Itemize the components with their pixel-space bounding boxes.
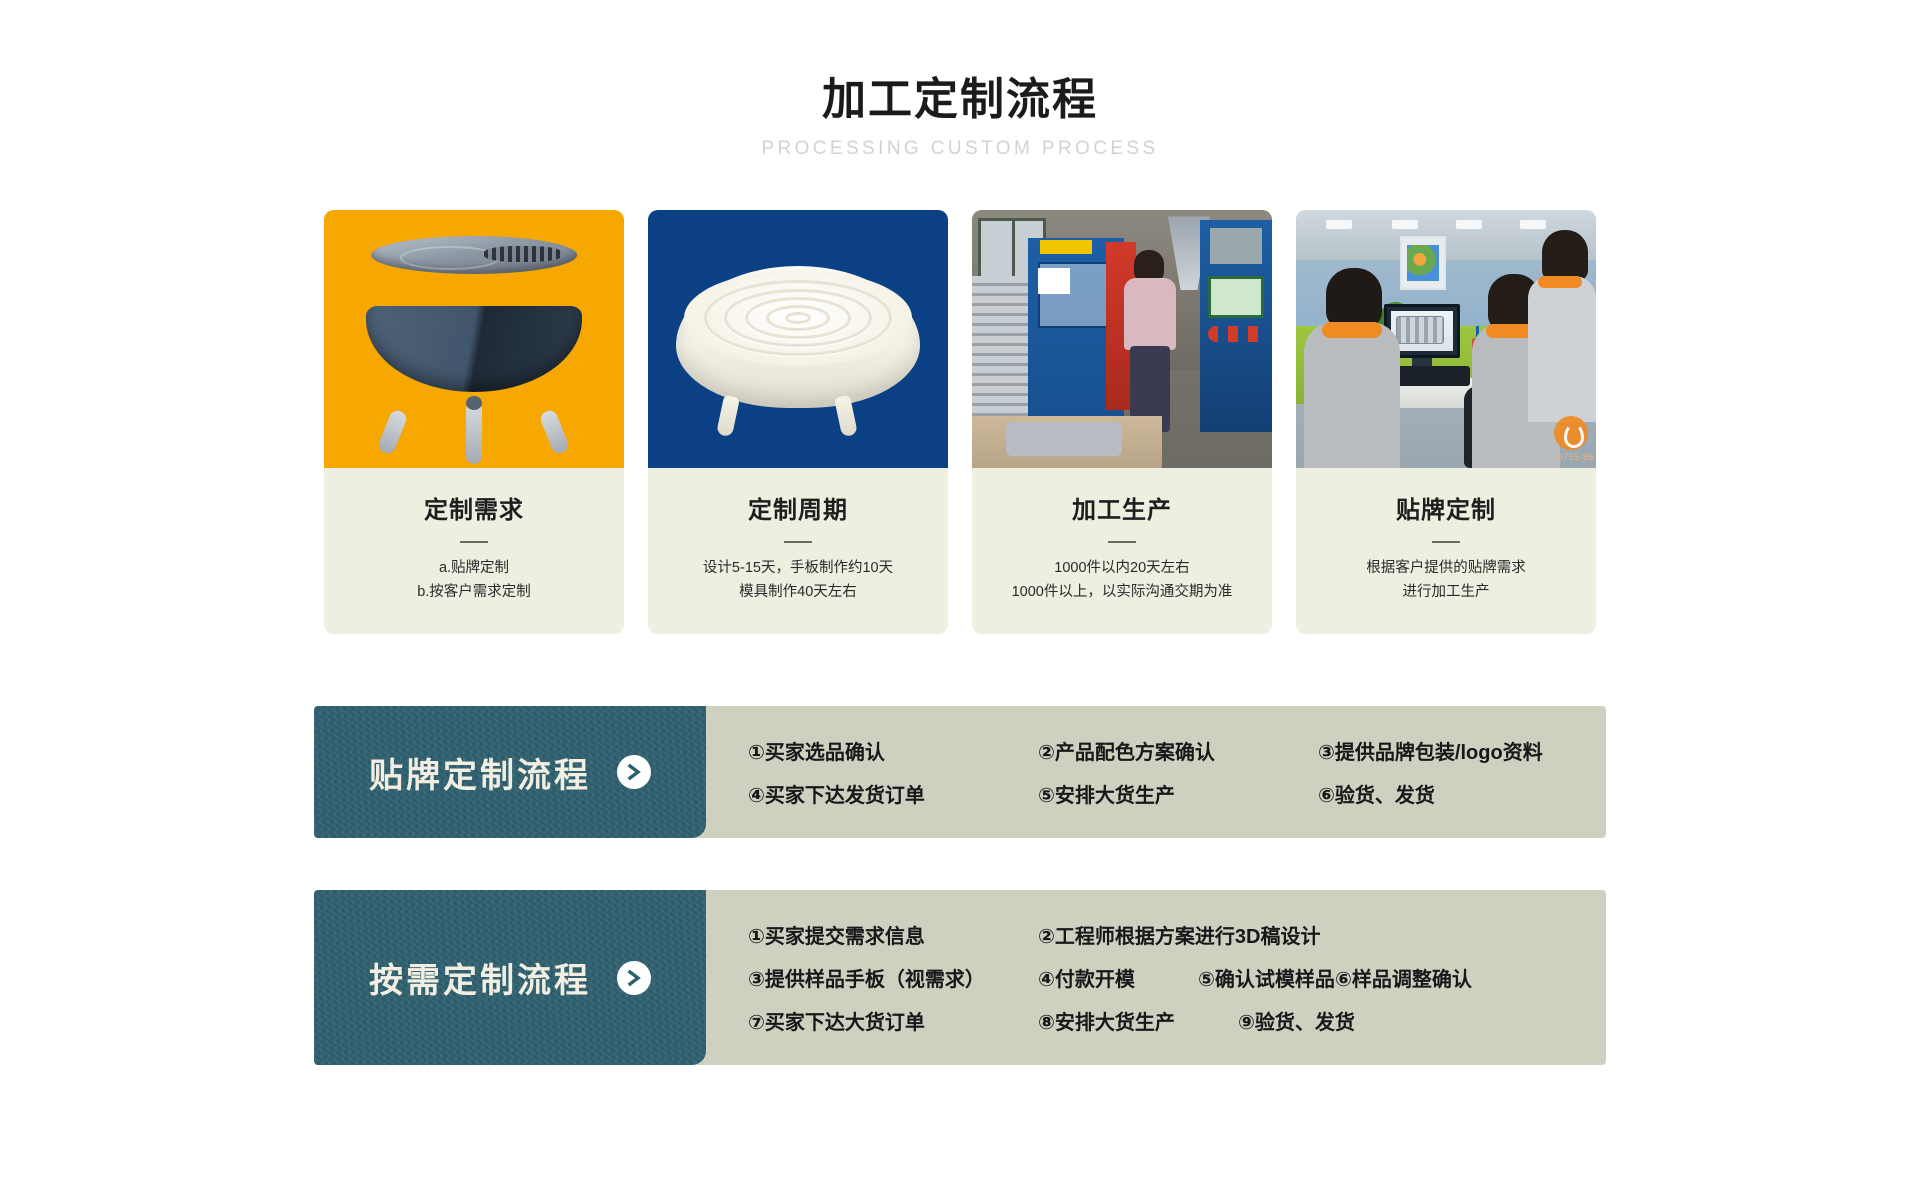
card-4-desc-line-1: 根据客户提供的贴牌需求 [1306, 557, 1586, 580]
person-left-body [1304, 322, 1400, 468]
banner-2-step-6: ⑥样品调整确认 [1335, 963, 1472, 992]
banner-1-step-5: ⑤安排大货生产 [1038, 779, 1318, 808]
card-1-title: 定制需求 [334, 490, 614, 525]
factory-product-stack [972, 276, 1036, 422]
grill-leg-left-icon [376, 409, 408, 456]
card-1-divider [460, 541, 488, 543]
card-1-desc-line-2: b.按客户需求定制 [334, 581, 614, 604]
office-person-left [1304, 268, 1400, 468]
banner-1-step-row-1: ①买家选品确认 ②产品配色方案确认 ③提供品牌包装/logo资料 [748, 736, 1584, 765]
custom-process-page: 加工定制流程 PROCESSING CUSTOM PROCESS 定制需求 a.… [0, 0, 1920, 1200]
card-1-illustration [324, 210, 624, 468]
banner-2-step-4: ④付款开模 [1038, 963, 1198, 992]
banner-1-step-6: ⑥验货、发货 [1318, 779, 1435, 808]
chevron-right-icon[interactable] [617, 961, 651, 995]
banner-1-step-4: ④买家下达发货订单 [748, 779, 1038, 808]
card-3-title: 加工生产 [982, 490, 1262, 525]
process-card-2[interactable]: 定制周期 设计5-15天，手板制作约10天 模具制作40天左右 [648, 210, 948, 634]
card-2-desc-line-1: 设计5-15天，手板制作约10天 [658, 557, 938, 580]
factory-molded-part [1006, 422, 1122, 456]
banner-1-label-panel: 贴牌定制流程 [314, 706, 706, 838]
office-ceiling-light-2 [1392, 220, 1418, 229]
card-2-illustration [648, 210, 948, 468]
banner-2-step-3: ③提供样品手板（视需求） [748, 963, 1038, 992]
card-3-desc-line-2: 1000件以上，以实际沟通交期为准 [982, 581, 1262, 604]
maze-bowl-top-icon [684, 270, 912, 366]
office-person-standing [1528, 230, 1596, 420]
maze-ring-5 [785, 312, 811, 324]
banner-2-step-7: ⑦买家下达大货订单 [748, 1006, 1038, 1035]
banner-1-step-row-2: ④买家下达发货订单 ⑤安排大货生产 ⑥验货、发货 [748, 779, 1584, 808]
factory-operator [1118, 250, 1180, 430]
card-2-divider [784, 541, 812, 543]
card-4-body: 贴牌定制 根据客户提供的贴牌需求 进行加工生产 [1296, 468, 1596, 634]
card-3-desc-line-1: 1000件以内20天左右 [982, 557, 1262, 580]
banner-oem-process: 贴牌定制流程 ①买家选品确认 ②产品配色方案确认 ③提供品牌包装/logo资料 … [314, 706, 1606, 838]
banner-2-step-1: ①买家提交需求信息 [748, 920, 1038, 949]
process-card-4[interactable]: 0755-86 贴牌定制 根据客户提供的贴牌需求 进行加工生产 [1296, 210, 1596, 634]
process-cards: 定制需求 a.贴牌定制 b.按客户需求定制 [0, 210, 1920, 634]
card-4-photo: 0755-86 [1296, 210, 1596, 468]
maze-bowl-icon [676, 266, 920, 408]
banner-1-step-2: ②产品配色方案确认 [1038, 736, 1318, 765]
card-1-body: 定制需求 a.贴牌定制 b.按客户需求定制 [324, 468, 624, 634]
banner-2-step-8: ⑧安排大货生产 [1038, 1006, 1238, 1035]
card-4-desc-line-2: 进行加工生产 [1306, 581, 1586, 604]
card-4-divider [1432, 541, 1460, 543]
grill-bowl-part-icon [366, 306, 582, 392]
person-standing-collar [1538, 276, 1582, 288]
monitor-cad-drawing [1396, 316, 1444, 344]
card-3-photo [972, 210, 1272, 468]
office-wall-poster [1400, 236, 1446, 290]
grill-leg-center-icon [466, 402, 482, 464]
phone-watermark: 0755-86 [1557, 452, 1594, 462]
banner-1-steps: ①买家选品确认 ②产品配色方案确认 ③提供品牌包装/logo资料 ④买家下达发货… [706, 706, 1606, 838]
control-panel-screen-main [1208, 276, 1264, 318]
banner-2-step-2: ②工程师根据方案进行3D稿设计 [1038, 920, 1321, 949]
process-banners: 贴牌定制流程 ①买家选品确认 ②产品配色方案确认 ③提供品牌包装/logo资料 … [0, 706, 1920, 1065]
control-panel-screen-top [1210, 228, 1262, 264]
card-1-desc-line-1: a.贴牌定制 [334, 557, 614, 580]
card-2-title: 定制周期 [658, 490, 938, 525]
maze-bowl-leg-left-icon [716, 395, 740, 437]
card-3-body: 加工生产 1000件以内20天左右 1000件以上，以实际沟通交期为准 [972, 468, 1272, 634]
banner-2-step-9: ⑨验货、发货 [1238, 1006, 1355, 1035]
page-subtitle: PROCESSING CUSTOM PROCESS [0, 138, 1920, 160]
chevron-right-icon[interactable] [617, 755, 651, 789]
banner-2-step-row-2: ③提供样品手板（视需求） ④付款开模 ⑤确认试模样品 ⑥样品调整确认 [748, 963, 1584, 992]
card-2-desc-line-2: 模具制作40天左右 [658, 581, 938, 604]
operator-shirt [1124, 278, 1176, 350]
person-left-head [1326, 268, 1382, 328]
banner-2-step-row-3: ⑦买家下达大货订单 ⑧安排大货生产 ⑨验货、发货 [748, 1006, 1584, 1035]
office-ceiling-light-3 [1456, 220, 1482, 229]
banner-1-step-1: ①买家选品确认 [748, 736, 1038, 765]
page-title: 加工定制流程 [0, 76, 1920, 124]
process-card-1[interactable]: 定制需求 a.贴牌定制 b.按客户需求定制 [324, 210, 624, 634]
office-ceiling-light-1 [1326, 220, 1352, 229]
banner-1-label: 贴牌定制流程 [369, 748, 591, 797]
person-standing-body [1528, 276, 1596, 422]
banner-2-label: 按需定制流程 [369, 953, 591, 1002]
card-4-title: 贴牌定制 [1306, 490, 1586, 525]
office-ceiling-light-4 [1520, 220, 1546, 229]
person-left-collar [1322, 322, 1382, 338]
banner-1-step-3: ③提供品牌包装/logo资料 [1318, 736, 1543, 765]
office-keyboard [1396, 366, 1470, 386]
grill-lid-part-icon [371, 236, 577, 274]
banner-2-step-5: ⑤确认试模样品 [1198, 963, 1335, 992]
card-3-divider [1108, 541, 1136, 543]
company-logo-watermark-icon [1554, 416, 1588, 450]
factory-yellow-label [1040, 240, 1092, 254]
control-panel-buttons [1208, 326, 1266, 342]
factory-warning-sign-icon [1038, 268, 1070, 294]
card-2-body: 定制周期 设计5-15天，手板制作约10天 模具制作40天左右 [648, 468, 948, 634]
grill-leg-right-icon [538, 409, 570, 456]
banner-2-step-row-1: ①买家提交需求信息 ②工程师根据方案进行3D稿设计 [748, 920, 1584, 949]
banner-2-label-panel: 按需定制流程 [314, 890, 706, 1065]
banner-2-steps: ①买家提交需求信息 ②工程师根据方案进行3D稿设计 ③提供样品手板（视需求） ④… [706, 890, 1606, 1065]
page-header: 加工定制流程 PROCESSING CUSTOM PROCESS [0, 0, 1920, 160]
person-standing-head [1542, 230, 1588, 282]
process-card-3[interactable]: 加工生产 1000件以内20天左右 1000件以上，以实际沟通交期为准 [972, 210, 1272, 634]
banner-ondemand-process: 按需定制流程 ①买家提交需求信息 ②工程师根据方案进行3D稿设计 ③提供样品手板… [314, 890, 1606, 1065]
